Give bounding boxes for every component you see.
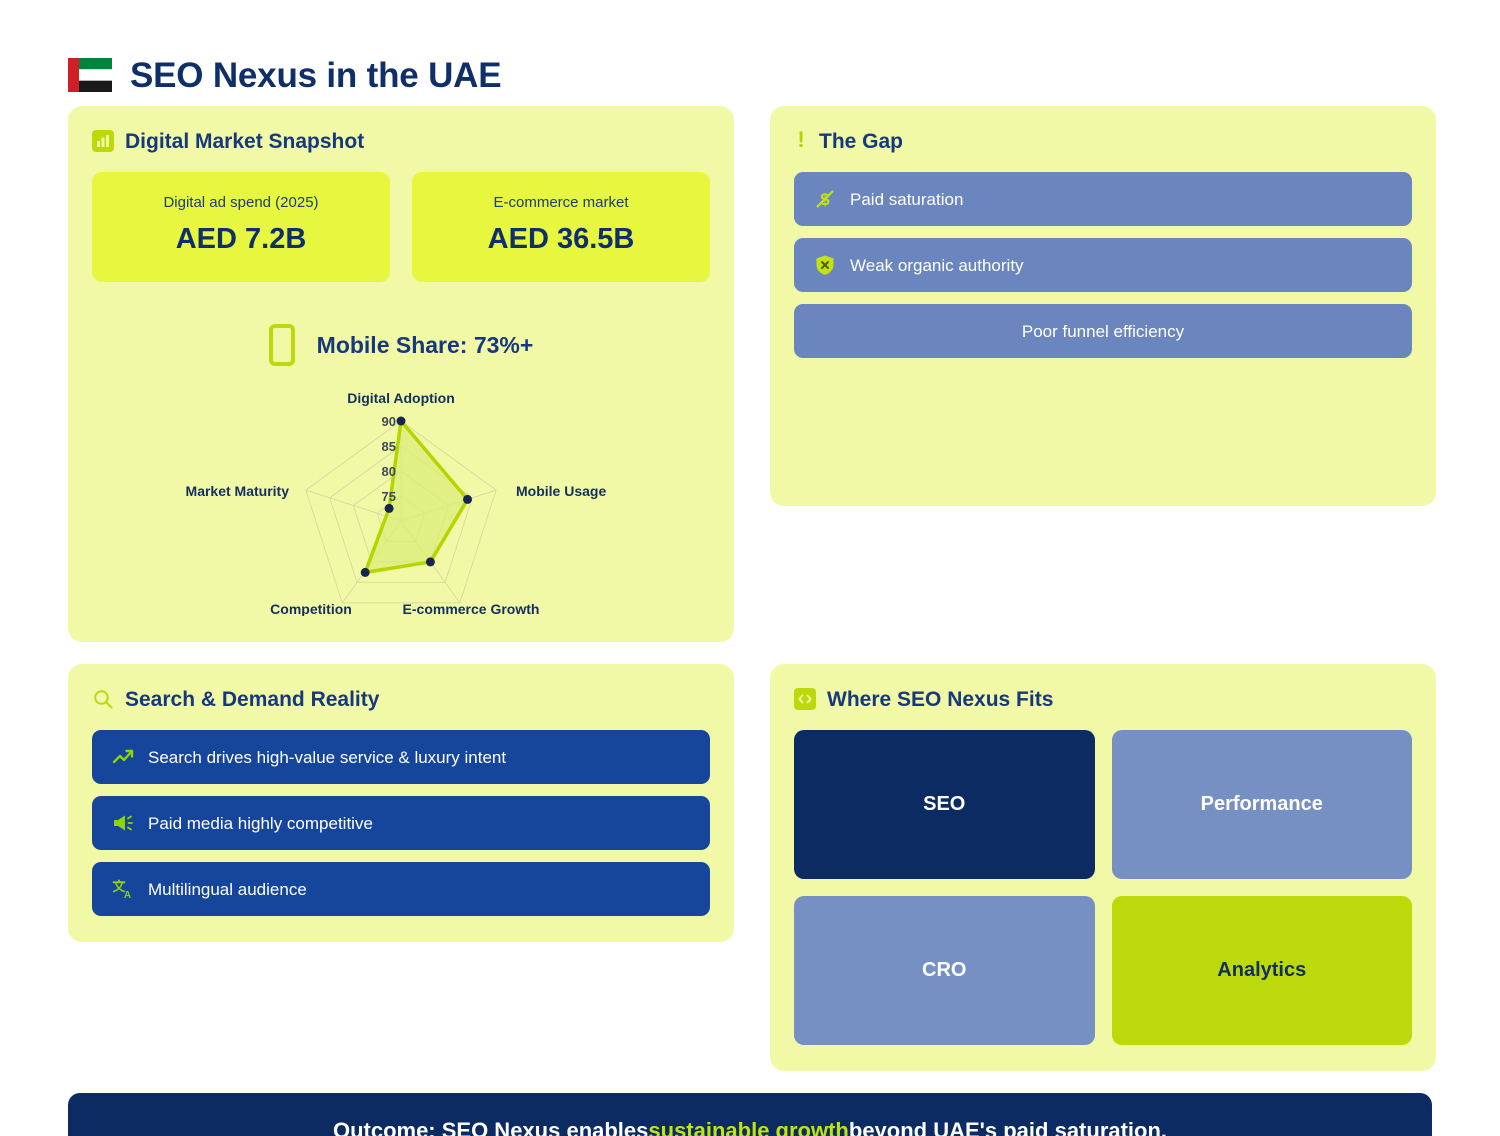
radar-chart: 90 85 80 75 Digital Adoption Mobile Usag…	[92, 376, 710, 616]
stat-row: Digital ad spend (2025) AED 7.2B E-comme…	[92, 172, 710, 282]
fits-quadrant-label: Performance	[1201, 793, 1323, 816]
megaphone-icon	[112, 812, 134, 834]
svg-text:90: 90	[382, 414, 396, 429]
search-item-label: Multilingual audience	[148, 881, 307, 898]
stat-label: E-commerce market	[422, 194, 700, 211]
svg-text:Market Maturity: Market Maturity	[186, 483, 290, 499]
infographic-page: SEO Nexus in the UAE Digital Market Snap…	[0, 0, 1500, 1136]
money-off-icon: $	[814, 188, 836, 210]
stat-value: AED 7.2B	[102, 223, 380, 256]
fits-quadrant-label: CRO	[922, 959, 966, 982]
svg-text:80: 80	[382, 464, 396, 479]
page-header: SEO Nexus in the UAE	[0, 0, 1500, 106]
shield-x-icon	[814, 254, 836, 276]
svg-text:Competition: Competition	[270, 601, 352, 616]
svg-text:E-commerce Growth: E-commerce Growth	[403, 601, 540, 616]
search-demand-title: Search & Demand Reality	[125, 689, 379, 710]
mobile-phone-icon	[269, 324, 295, 366]
stat-label: Digital ad spend (2025)	[102, 194, 380, 211]
search-demand-header: Search & Demand Reality	[92, 688, 710, 710]
gap-item-label: Poor funnel efficiency	[1022, 323, 1184, 340]
gap-item-label: Weak organic authority	[850, 257, 1024, 274]
gap-item-label: Paid saturation	[850, 191, 963, 208]
fits-quadrant-label: Analytics	[1217, 959, 1306, 982]
gap-title: The Gap	[819, 131, 903, 152]
radar-chart-svg: 90 85 80 75 Digital Adoption Mobile Usag…	[171, 376, 631, 616]
svg-text:Mobile Usage: Mobile Usage	[516, 483, 606, 499]
snapshot-header: Digital Market Snapshot	[92, 130, 710, 152]
outcome-prefix: Outcome: SEO Nexus enables	[333, 1118, 648, 1136]
search-item-high-value-intent[interactable]: Search drives high-value service & luxur…	[92, 730, 710, 784]
code-brackets-icon	[794, 688, 816, 710]
gap-item-weak-organic-authority[interactable]: Weak organic authority	[794, 238, 1412, 292]
fits-quadrant-analytics[interactable]: Analytics	[1112, 896, 1413, 1045]
fits-header: Where SEO Nexus Fits	[794, 688, 1412, 710]
stat-card-ad-spend: Digital ad spend (2025) AED 7.2B	[92, 172, 390, 282]
fits-quadrant-label: SEO	[923, 793, 965, 816]
svg-text:75: 75	[382, 489, 396, 504]
where-seo-nexus-fits-card: Where SEO Nexus Fits SEO Performance CRO…	[770, 664, 1436, 1071]
main-grid: Digital Market Snapshot Digital ad spend…	[0, 106, 1500, 1071]
search-demand-reality-card: Search & Demand Reality Search drives hi…	[68, 664, 734, 942]
search-item-multilingual-audience[interactable]: 文 A Multilingual audience	[92, 862, 710, 916]
page-title: SEO Nexus in the UAE	[130, 58, 501, 93]
fits-quadrant-cro[interactable]: CRO	[794, 896, 1095, 1045]
svg-text:A: A	[124, 890, 131, 900]
outcome-suffix: beyond UAE's paid saturation.	[849, 1118, 1167, 1136]
svg-text:85: 85	[382, 439, 396, 454]
svg-text:Digital Adoption: Digital Adoption	[347, 390, 455, 406]
search-item-label: Paid media highly competitive	[148, 815, 373, 832]
trending-up-icon	[112, 746, 134, 768]
fits-title: Where SEO Nexus Fits	[827, 689, 1053, 710]
fits-quadrant-performance[interactable]: Performance	[1112, 730, 1413, 879]
outcome-banner: Outcome: SEO Nexus enables sustainable g…	[68, 1093, 1432, 1136]
fits-quadrant-grid: SEO Performance CRO Analytics	[794, 730, 1412, 1045]
stat-card-ecommerce: E-commerce market AED 36.5B	[412, 172, 710, 282]
snapshot-title: Digital Market Snapshot	[125, 131, 364, 152]
gap-item-poor-funnel-efficiency[interactable]: Poor funnel efficiency	[794, 304, 1412, 358]
exclamation-icon: !	[794, 130, 808, 152]
translate-icon: 文 A	[112, 878, 134, 900]
the-gap-card: ! The Gap $ Paid saturation Weak organic…	[770, 106, 1436, 506]
uae-flag-icon	[68, 58, 112, 92]
gap-item-paid-saturation[interactable]: $ Paid saturation	[794, 172, 1412, 226]
fits-quadrant-seo[interactable]: SEO	[794, 730, 1095, 879]
search-item-label: Search drives high-value service & luxur…	[148, 749, 506, 766]
mobile-share-label: Mobile Share: 73%+	[317, 332, 534, 359]
digital-market-snapshot-card: Digital Market Snapshot Digital ad spend…	[68, 106, 734, 642]
search-item-paid-media[interactable]: Paid media highly competitive	[92, 796, 710, 850]
search-icon	[92, 688, 114, 710]
outcome-highlight: sustainable growth	[648, 1118, 848, 1136]
gap-header: ! The Gap	[794, 130, 1412, 152]
mobile-share-row: Mobile Share: 73%+	[92, 324, 710, 366]
bar-chart-icon	[92, 130, 114, 152]
stat-value: AED 36.5B	[422, 223, 700, 256]
radar-series-polygon	[365, 421, 467, 572]
